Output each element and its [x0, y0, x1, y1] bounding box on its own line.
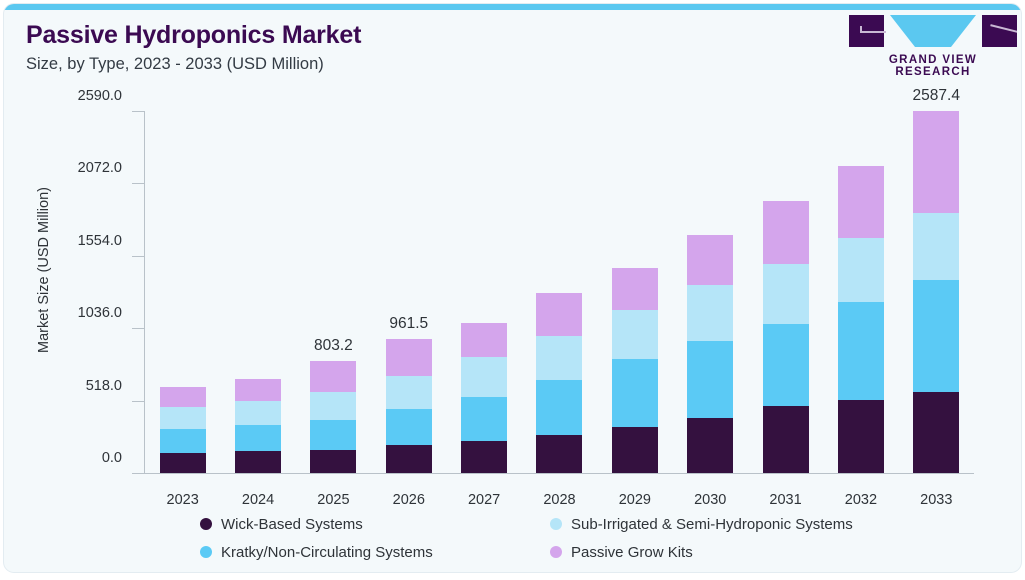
y-tick-mark	[132, 328, 144, 329]
stacked-bar[interactable]	[160, 387, 206, 473]
legend-color-swatch	[550, 546, 562, 558]
stacked-bar[interactable]: 961.5	[386, 339, 432, 473]
bar-column[interactable]	[823, 111, 898, 473]
y-tick-label: 2072.0	[78, 160, 122, 176]
y-tick-label: 1554.0	[78, 233, 122, 249]
bar-segment[interactable]	[838, 166, 884, 238]
bar-segment[interactable]	[160, 429, 206, 453]
bar-segment[interactable]	[612, 359, 658, 428]
x-tick-label: 2030	[673, 492, 748, 508]
bar-column[interactable]: 961.5	[371, 111, 446, 473]
stacked-bar[interactable]	[612, 268, 658, 473]
axes: 0.0518.01036.01554.02072.02590.0 803.296…	[144, 111, 974, 474]
bar-column[interactable]: 803.2	[296, 111, 371, 473]
y-axis-title: Market Size (USD Million)	[36, 120, 52, 420]
bar-segment[interactable]	[310, 420, 356, 450]
y-tick-label: 0.0	[102, 450, 122, 466]
x-tick-label: 2027	[446, 492, 521, 508]
plot-area: Market Size (USD Million) 0.0518.01036.0…	[4, 92, 1021, 512]
y-tick-label: 2590.0	[78, 88, 122, 104]
stacked-bar[interactable]	[536, 293, 582, 473]
bar-segment[interactable]	[612, 427, 658, 473]
bar-segment[interactable]	[913, 392, 959, 473]
legend-color-swatch	[550, 518, 562, 530]
legend-label: Passive Grow Kits	[571, 544, 693, 561]
bar-segment[interactable]	[913, 213, 959, 280]
logo-r-icon	[982, 15, 1017, 47]
legend-label: Kratky/Non-Circulating Systems	[221, 544, 433, 561]
bar-segment[interactable]	[310, 450, 356, 473]
x-axis-line	[144, 473, 974, 474]
x-tick-label: 2023	[145, 492, 220, 508]
bar-segment[interactable]	[461, 357, 507, 397]
bar-segment[interactable]	[687, 418, 733, 473]
stacked-bar[interactable]	[838, 166, 884, 473]
logo-marks	[849, 15, 1017, 49]
stacked-bar[interactable]	[687, 235, 733, 473]
x-tick-label: 2032	[823, 492, 898, 508]
bar-segment[interactable]	[160, 407, 206, 429]
bar-segment[interactable]	[687, 285, 733, 341]
bar-segment[interactable]	[763, 201, 809, 264]
bar-segment[interactable]	[612, 310, 658, 358]
legend-color-swatch	[200, 518, 212, 530]
x-tick-label: 2024	[220, 492, 295, 508]
legend-item[interactable]: Passive Grow Kits	[550, 538, 900, 566]
bar-segment[interactable]	[386, 445, 432, 473]
chart-card: Passive Hydroponics Market Size, by Type…	[4, 4, 1021, 572]
bar-segment[interactable]	[913, 280, 959, 392]
grand-view-research-logo: GRAND VIEW RESEARCH	[849, 15, 1017, 77]
bar-segment[interactable]	[536, 336, 582, 380]
legend-color-swatch	[200, 546, 212, 558]
y-tick-mark	[132, 183, 144, 184]
bar-total-label: 803.2	[314, 337, 353, 355]
bar-segment[interactable]	[386, 409, 432, 445]
bar-column[interactable]	[673, 111, 748, 473]
bar-total-label: 2587.4	[913, 87, 960, 105]
bar-segment[interactable]	[536, 435, 582, 473]
bar-segment[interactable]	[763, 264, 809, 324]
bar-segment[interactable]	[235, 425, 281, 451]
x-tick-label: 2033	[899, 492, 974, 508]
bar-segment[interactable]	[838, 400, 884, 473]
logo-g-icon	[849, 15, 884, 47]
chart-legend: Wick-Based SystemsSub-Irrigated & Semi-H…	[200, 510, 900, 566]
legend-label: Wick-Based Systems	[221, 516, 363, 533]
bar-column[interactable]	[220, 111, 295, 473]
bar-segment[interactable]	[461, 397, 507, 441]
bar-segment[interactable]	[536, 380, 582, 435]
bar-column[interactable]	[597, 111, 672, 473]
legend-item[interactable]: Wick-Based Systems	[200, 510, 550, 538]
bar-segment[interactable]	[461, 323, 507, 357]
logo-text: GRAND VIEW RESEARCH	[849, 54, 1017, 78]
bar-segment[interactable]	[461, 441, 507, 473]
x-tick-label: 2031	[748, 492, 823, 508]
bar-segment[interactable]	[310, 361, 356, 392]
x-tick-label: 2026	[371, 492, 446, 508]
bar-segment[interactable]	[536, 293, 582, 336]
bar-segment[interactable]	[763, 324, 809, 406]
bar-total-label: 961.5	[389, 315, 428, 333]
y-tick-mark	[132, 473, 144, 474]
x-tick-label: 2025	[296, 492, 371, 508]
legend-label: Sub-Irrigated & Semi-Hydroponic Systems	[571, 516, 853, 533]
bar-segment[interactable]	[763, 406, 809, 473]
bar-column[interactable]	[145, 111, 220, 473]
y-tick-label: 1036.0	[78, 305, 122, 321]
bar-segment[interactable]	[612, 268, 658, 311]
stacked-bar[interactable]: 2587.4	[913, 111, 959, 473]
bar-column[interactable]: 2587.4	[899, 111, 974, 473]
bar-column[interactable]	[522, 111, 597, 473]
y-tick-label: 518.0	[86, 378, 122, 394]
bar-segment[interactable]	[687, 341, 733, 418]
bar-segment[interactable]	[160, 453, 206, 473]
bar-segment[interactable]	[235, 379, 281, 401]
bar-column[interactable]	[748, 111, 823, 473]
bar-segment[interactable]	[838, 238, 884, 302]
bar-segment[interactable]	[687, 235, 733, 284]
y-tick-mark	[132, 111, 144, 112]
x-axis-tick-labels: 2023202420252026202720282029203020312032…	[145, 492, 974, 508]
legend-item[interactable]: Sub-Irrigated & Semi-Hydroponic Systems	[550, 510, 900, 538]
bar-segment[interactable]	[235, 401, 281, 425]
top-accent-bar	[4, 4, 1021, 10]
stacked-bar[interactable]: 803.2	[310, 361, 356, 473]
x-tick-label: 2028	[522, 492, 597, 508]
stacked-bar[interactable]	[763, 201, 809, 473]
bar-series-group: 803.2961.52587.4	[145, 111, 974, 473]
legend-item[interactable]: Kratky/Non-Circulating Systems	[200, 538, 550, 566]
bar-column[interactable]	[446, 111, 521, 473]
stacked-bar[interactable]	[235, 379, 281, 473]
y-tick-mark	[132, 401, 144, 402]
bar-segment[interactable]	[310, 392, 356, 420]
x-tick-label: 2029	[597, 492, 672, 508]
bar-segment[interactable]	[160, 387, 206, 407]
bar-segment[interactable]	[386, 376, 432, 410]
bar-segment[interactable]	[386, 339, 432, 376]
stacked-bar[interactable]	[461, 323, 507, 473]
y-tick-mark	[132, 256, 144, 257]
bar-segment[interactable]	[235, 451, 281, 473]
bar-segment[interactable]	[913, 111, 959, 213]
bar-segment[interactable]	[838, 302, 884, 400]
